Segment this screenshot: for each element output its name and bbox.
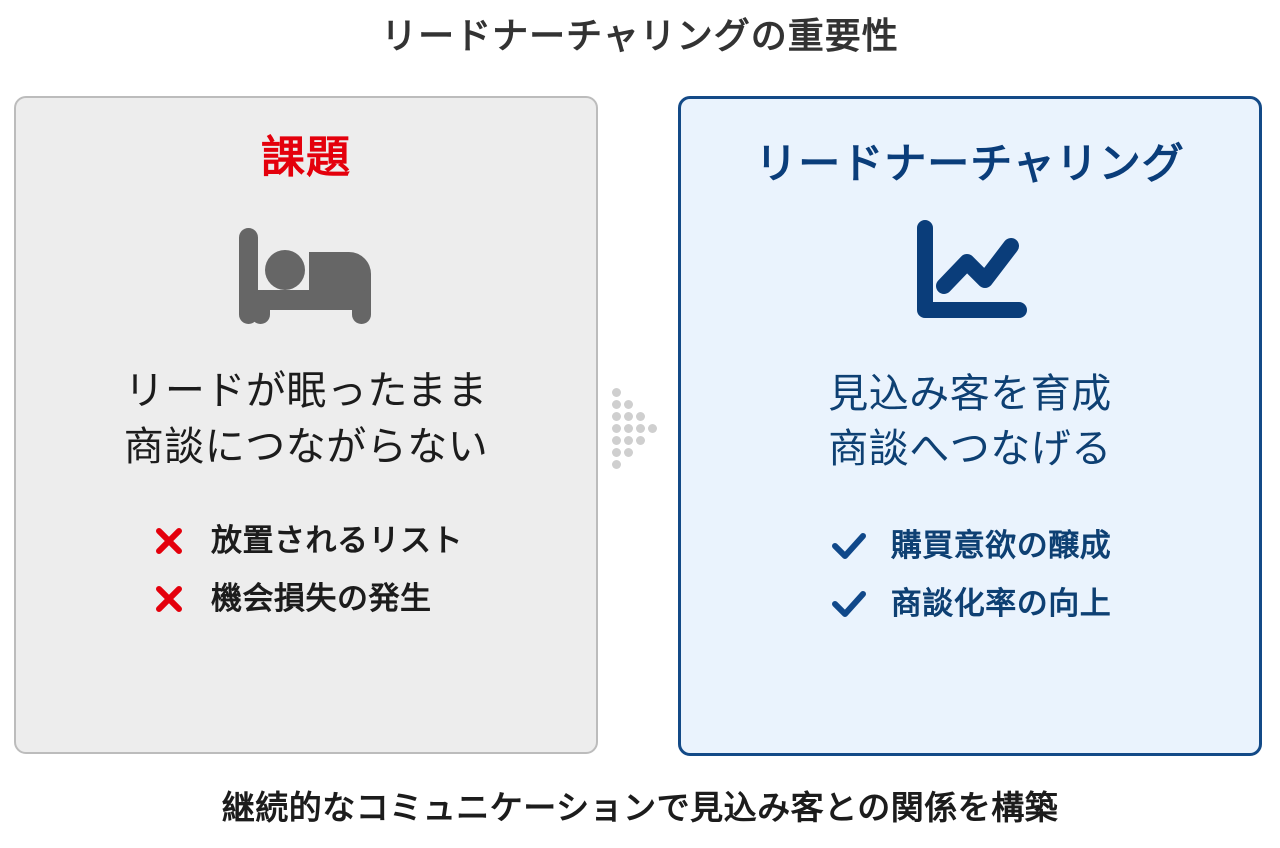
footer-caption: 継続的なコミュニケーションで見込み客との関係を構築 [0, 781, 1280, 829]
problem-lead-line-1: リードが眠ったまま [124, 364, 489, 419]
problem-bullet-label: 機会損失の発生 [211, 582, 432, 616]
page-title: リードナーチャリングの重要性 [0, 14, 1280, 57]
solution-lead-line-2: 商談へつなげる [828, 422, 1112, 477]
solution-bullet-label: 商談化率の向上 [891, 587, 1112, 621]
problem-lead-line-2: 商談につながらない [124, 420, 489, 475]
bed-sleeping-icon [231, 220, 381, 335]
trend-chart-up-icon [911, 220, 1029, 329]
cross-icon [149, 579, 189, 619]
list-item: 機会損失の発生 [149, 579, 463, 619]
problem-panel: 課題 リードが眠ったまま 商談につながらない [14, 96, 598, 754]
list-item: 購買意欲の醸成 [829, 526, 1112, 566]
list-item: 放置されるリスト [149, 521, 463, 561]
check-icon [829, 526, 869, 566]
list-item: 商談化率の向上 [829, 584, 1112, 624]
solution-panel: リードナーチャリング 見込み客を育成 商談へつなげる 購買意欲の醸成 [678, 96, 1262, 756]
solution-lead-text: 見込み客を育成 商談へつなげる [828, 367, 1112, 477]
check-icon [829, 584, 869, 624]
problem-bullet-label: 放置されるリスト [211, 524, 463, 558]
solution-lead-line-1: 見込み客を育成 [828, 367, 1112, 422]
solution-bullet-list: 購買意欲の醸成 商談化率の向上 [829, 526, 1112, 624]
problem-panel-heading: 課題 [261, 134, 351, 182]
solution-panel-heading: リードナーチャリング [755, 141, 1185, 187]
problem-bullet-list: 放置されるリスト 機会損失の発生 [149, 521, 463, 619]
solution-bullet-label: 購買意欲の醸成 [891, 529, 1112, 563]
problem-icon-wrap [231, 218, 381, 336]
dotted-arrow-right-icon [612, 388, 668, 464]
problem-lead-text: リードが眠ったまま 商談につながらない [124, 364, 489, 474]
solution-icon-wrap [911, 215, 1029, 333]
cross-icon [149, 521, 189, 561]
